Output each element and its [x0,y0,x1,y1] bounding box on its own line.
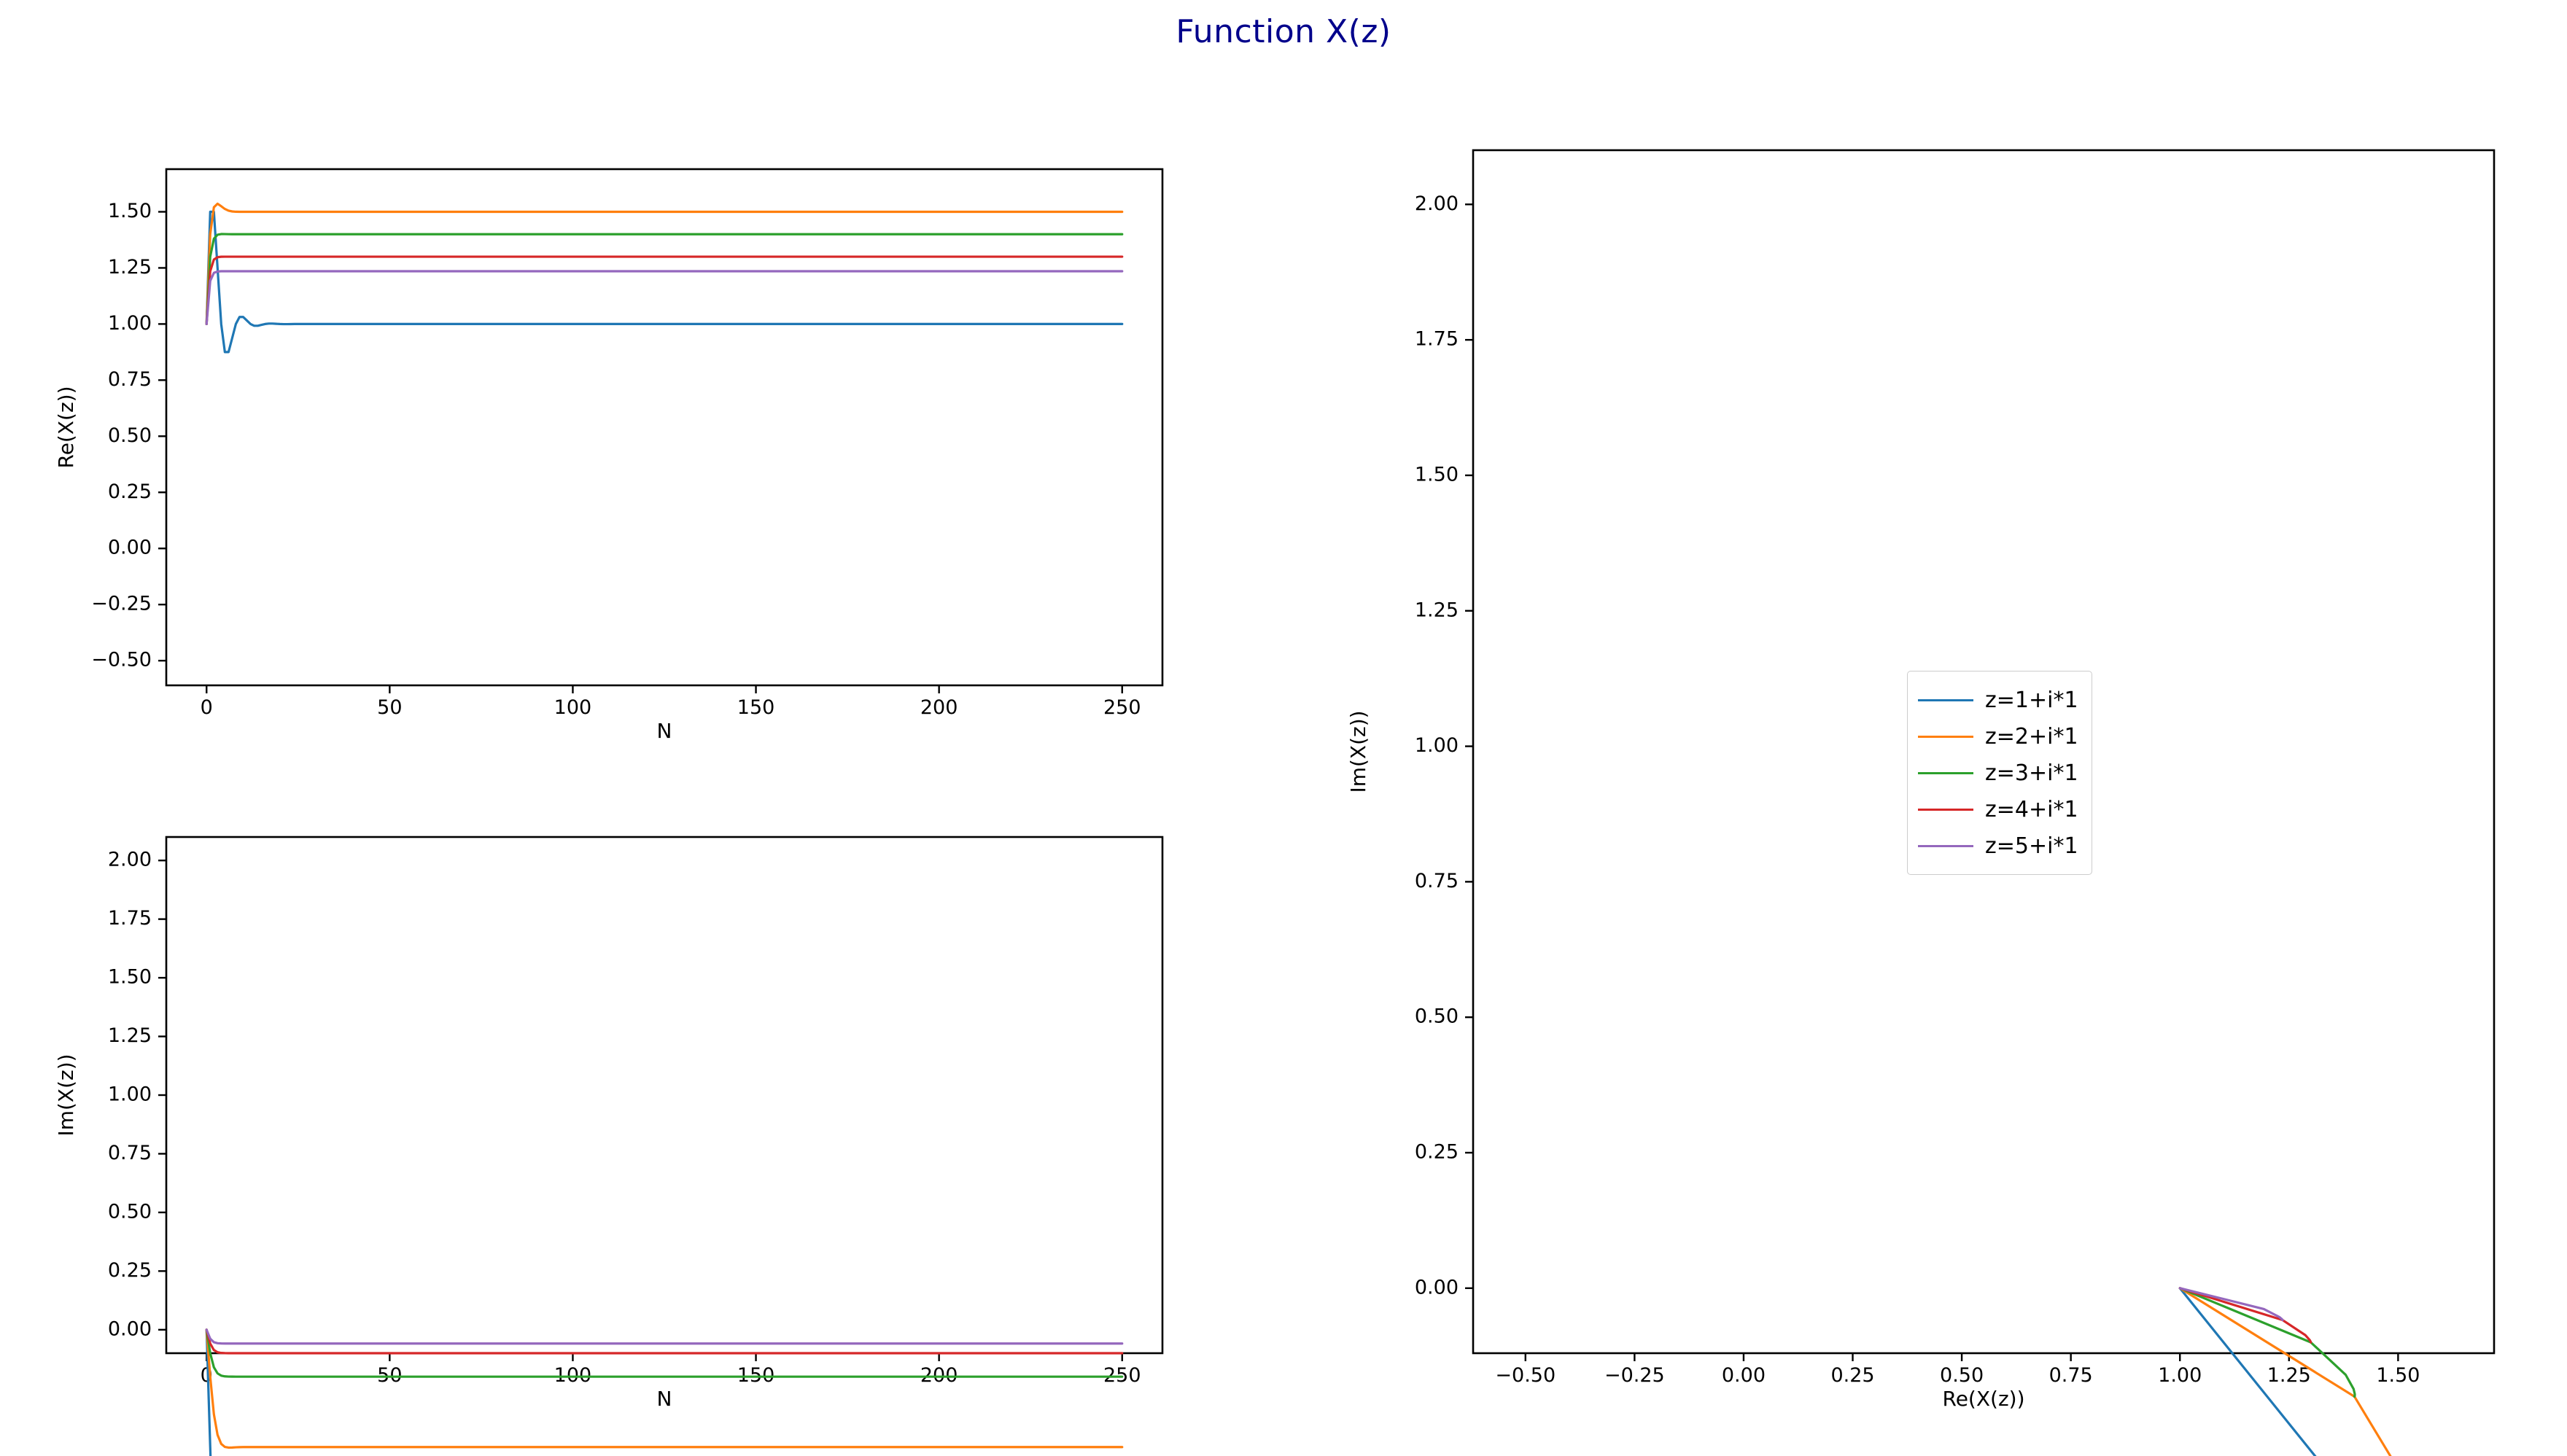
series-line-1 [206,203,1122,324]
x-axis-label: N [657,1387,672,1411]
y-tick-label: 0.25 [1415,1141,1459,1164]
x-axis-label: Re(X(z)) [1943,1387,2025,1411]
x-axis-label: N [657,719,672,743]
legend-label: z=5+i*1 [1985,833,2078,859]
legend-swatch-line [1918,809,1973,811]
y-tick-label: 1.50 [1415,463,1459,486]
y-axis-label: Re(X(z)) [54,386,78,469]
figure-title: Function X(z) [0,13,2567,50]
x-tick-label: 0 [201,696,213,719]
y-tick-label: 0.25 [108,1259,152,1282]
y-tick-label: 2.00 [108,849,152,871]
y-tick-label: 1.00 [108,1083,152,1106]
y-tick-label: 1.00 [108,312,152,335]
series-line-3 [206,1330,1122,1353]
y-tick-label: 0.25 [108,480,152,503]
x-tick-label: 250 [1103,696,1141,719]
legend-swatch-line [1918,736,1973,738]
x-tick-label: 50 [377,696,402,719]
y-tick-label: −0.50 [91,649,152,671]
y-axis-label: Im(X(z)) [54,1054,78,1136]
series-line-4 [206,1330,1122,1344]
figure-canvas: Function X(z) 050100150200250−0.50−0.250… [0,0,2567,1456]
y-tick-label: 0.00 [108,1317,152,1340]
series-line-2 [206,234,1122,324]
y-tick-label: 1.75 [108,907,152,930]
legend-item[interactable]: z=4+i*1 [1918,791,2078,828]
y-tick-label: 0.50 [1415,1005,1459,1028]
legend-item[interactable]: z=1+i*1 [1918,682,2078,718]
y-tick-label: 0.00 [1415,1276,1459,1299]
y-tick-label: 1.00 [1415,734,1459,757]
y-tick-label: 1.50 [108,200,152,222]
x-tick-label: 0.75 [2049,1364,2093,1387]
legend-label: z=1+i*1 [1985,688,2078,713]
y-tick-label: 0.00 [108,537,152,559]
y-tick-label: 0.50 [108,1200,152,1223]
y-tick-label: 1.25 [1415,599,1459,621]
legend-label: z=4+i*1 [1985,797,2078,822]
legend-item[interactable]: z=5+i*1 [1918,828,2078,864]
y-tick-label: 0.75 [108,1142,152,1164]
legend-swatch-line [1918,699,1973,701]
y-tick-label: 1.25 [108,1024,152,1047]
y-tick-label: 1.25 [108,256,152,279]
y-axis-label: Im(X(z)) [1346,710,1370,793]
y-tick-label: 0.50 [108,424,152,447]
legend-label: z=3+i*1 [1985,760,2078,786]
x-tick-label: 150 [737,696,775,719]
legend-swatch-line [1918,772,1973,774]
x-tick-label: 200 [920,696,958,719]
legend-item[interactable]: z=2+i*1 [1918,718,2078,755]
x-tick-label: 100 [554,696,592,719]
x-tick-label: −0.25 [1604,1364,1665,1387]
y-tick-label: 0.75 [1415,870,1459,892]
x-tick-label: 1.50 [2376,1364,2420,1387]
x-tick-label: 1.25 [2267,1364,2311,1387]
x-tick-label: 1.00 [2158,1364,2202,1387]
x-tick-label: 0.00 [1722,1364,1766,1387]
y-tick-label: 1.75 [1415,328,1459,351]
axes-frame [166,169,1162,685]
y-tick-label: 0.75 [108,368,152,391]
y-tick-label: 2.00 [1415,192,1459,215]
y-tick-label: 1.50 [108,966,152,989]
legend-label: z=2+i*1 [1985,724,2078,750]
axes-im-vs-n[interactable]: 0501001502002500.000.250.500.751.001.251… [166,837,1162,1353]
series-line-4 [206,271,1122,324]
series-line-0 [206,211,1122,351]
y-tick-label: −0.25 [91,593,152,615]
axes-re-vs-n[interactable]: 050100150200250−0.50−0.250.000.250.500.7… [166,169,1162,685]
legend-swatch-line [1918,845,1973,847]
legend[interactable]: z=1+i*1z=2+i*1z=3+i*1z=4+i*1z=5+i*1 [1907,671,2092,875]
series-line-3 [206,257,1122,324]
x-tick-label: 0.25 [1830,1364,1874,1387]
legend-item[interactable]: z=3+i*1 [1918,755,2078,791]
x-tick-label: −0.50 [1495,1364,1556,1387]
x-tick-label: 0.50 [1940,1364,1984,1387]
axes-frame [166,837,1162,1353]
